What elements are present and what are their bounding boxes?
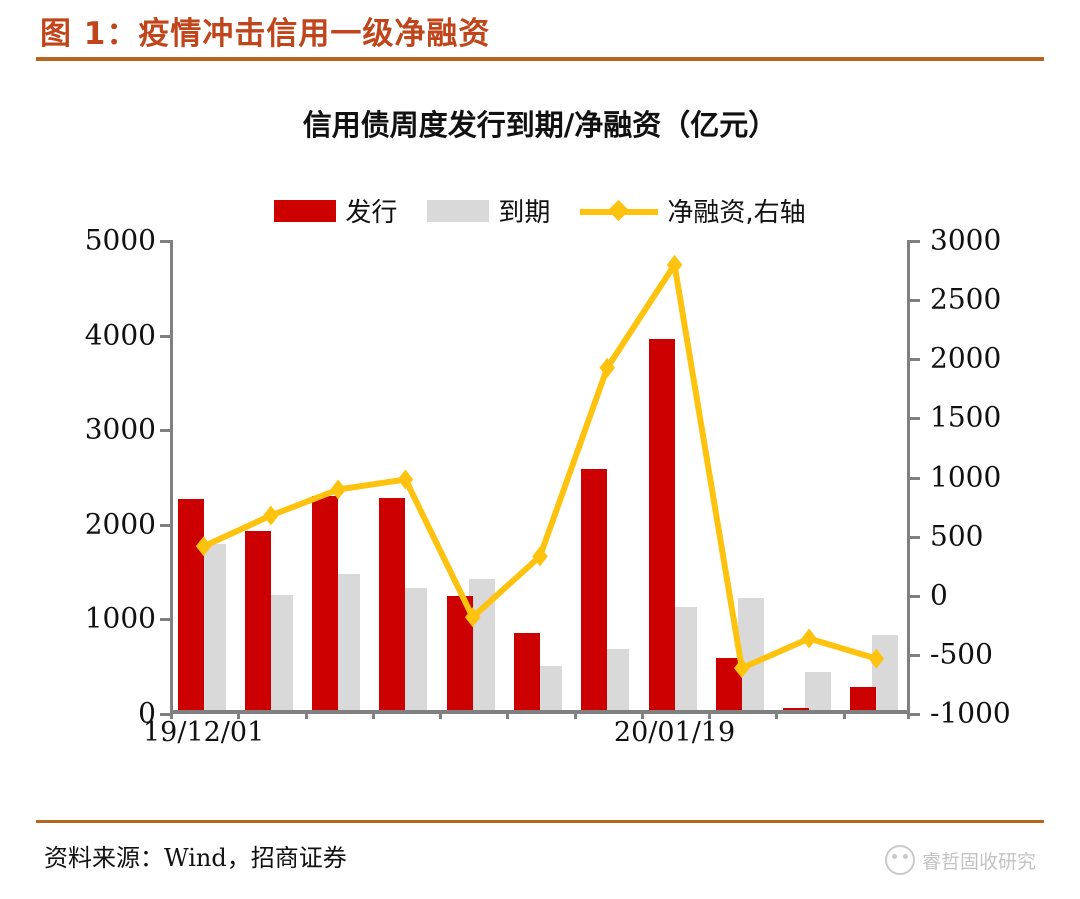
- y-axis-left-tick-label: 3000: [85, 413, 156, 446]
- plot-area: [170, 240, 910, 713]
- legend-swatch-issuance: [274, 200, 336, 222]
- y-axis-right-tick: [910, 713, 920, 716]
- net-financing-marker: [330, 480, 346, 500]
- net-financing-marker: [196, 536, 212, 556]
- y-axis-right-tick-label: 2500: [930, 283, 1001, 316]
- y-axis-right-tick: [910, 240, 920, 243]
- chart-title: 信用债周度发行到期/净融资（亿元）: [0, 102, 1080, 144]
- footer-divider: [36, 820, 1044, 823]
- y-axis-right-tick: [910, 595, 920, 598]
- y-axis-right-tick-label: 2000: [930, 342, 1001, 375]
- y-axis-left-tick-label: 2000: [85, 507, 156, 540]
- y-axis-right-tick-label: 0: [930, 578, 948, 611]
- net-financing-marker: [734, 658, 750, 678]
- brand-logo-icon: [885, 845, 915, 875]
- y-axis-left: 010002000300040005000: [48, 240, 156, 713]
- chart-legend: 发行 到期 净融资,右轴: [0, 192, 1080, 229]
- y-axis-left-tick: [160, 240, 170, 243]
- legend-item-issuance: 发行: [274, 192, 397, 229]
- legend-label-net-financing: 净融资,右轴: [667, 192, 805, 229]
- chart-container: 信用债周度发行到期/净融资（亿元） 发行 到期 净融资,右轴 010002000…: [0, 62, 1080, 817]
- y-axis-right-tick-label: 1000: [930, 460, 1001, 493]
- net-financing-marker: [801, 629, 817, 649]
- y-axis-left-tick: [160, 335, 170, 338]
- figure-title: 图 1：疫情冲击信用一级净融资: [40, 8, 490, 53]
- y-axis-right-tick-label: -500: [930, 637, 993, 670]
- net-financing-marker: [263, 506, 279, 526]
- x-axis-tick-label: 20/01/19: [614, 717, 735, 748]
- legend-item-maturity: 到期: [427, 192, 550, 229]
- legend-swatch-net-financing: [580, 202, 658, 220]
- y-axis-left-tick-label: 1000: [85, 602, 156, 635]
- y-axis-right-tick: [910, 477, 920, 480]
- y-axis-left-tick: [160, 524, 170, 527]
- legend-label-maturity: 到期: [498, 192, 550, 229]
- y-axis-left-tick: [160, 713, 170, 716]
- watermark: 睿哲固收研究: [885, 845, 1036, 875]
- y-axis-right-tick: [910, 358, 920, 361]
- y-axis-right-tick: [910, 299, 920, 302]
- net-financing-polyline: [204, 265, 877, 668]
- x-axis-labels: 19/12/0120/01/19: [0, 717, 1080, 757]
- source-note: 资料来源：Wind，招商证券: [44, 838, 347, 873]
- net-financing-line: [170, 240, 910, 713]
- legend-swatch-maturity: [427, 200, 489, 222]
- y-axis-right-tick: [910, 654, 920, 657]
- header-divider: [36, 57, 1044, 61]
- legend-item-net-financing: 净融资,右轴: [580, 192, 805, 229]
- y-axis-left-tick-label: 5000: [85, 224, 156, 257]
- watermark-label: 睿哲固收研究: [922, 847, 1036, 874]
- legend-label-issuance: 发行: [345, 192, 397, 229]
- y-axis-right-tick: [910, 417, 920, 420]
- x-axis-tick-label: 19/12/01: [143, 717, 264, 748]
- net-financing-marker: [869, 649, 885, 669]
- y-axis-right: -1000-500050010001500200025003000: [930, 240, 1060, 713]
- y-axis-left-tick-label: 4000: [85, 318, 156, 351]
- y-axis-left-tick: [160, 429, 170, 432]
- y-axis-right-tick-label: 1500: [930, 401, 1001, 434]
- y-axis-left-tick: [160, 618, 170, 621]
- y-axis-right-tick-label: 500: [930, 519, 983, 552]
- y-axis-right-tick-label: 3000: [930, 224, 1001, 257]
- y-axis-right-tick: [910, 536, 920, 539]
- figure-header: 图 1：疫情冲击信用一级净融资: [0, 0, 1080, 62]
